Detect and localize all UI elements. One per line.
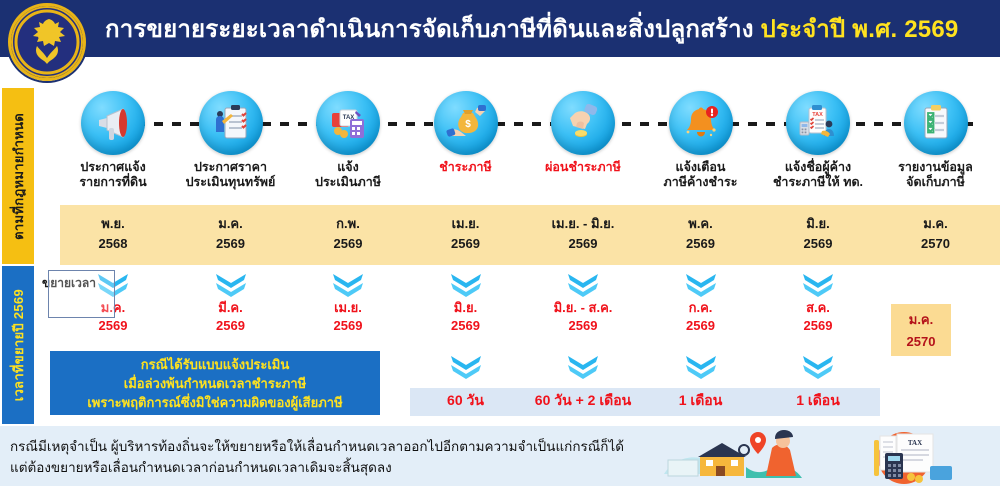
legal-date-5-year: 2569	[524, 234, 642, 254]
duration-4	[759, 352, 877, 381]
selection-highlight-box[interactable]	[48, 270, 115, 318]
extension-date-7-month: ส.ค.	[759, 299, 877, 317]
legal-date-8: ม.ค. 2570	[877, 214, 995, 254]
rail-legal-schedule-label: ตามที่กฎหมายกำหนด	[8, 113, 29, 240]
legal-date-4: เม.ย. 2569	[407, 214, 525, 254]
chevron-double-down-icon	[801, 272, 835, 298]
footer-note: กรณีมีเหตุจำเป็น ผู้บริหารท้องถิ่นจะให้ข…	[0, 426, 1000, 486]
clipboard-person-icon	[199, 91, 263, 155]
extension-date-1-year: 2569	[54, 317, 172, 335]
page-title: การขยายระยะเวลาดำเนินการจัดเก็บภาษีที่ดิ…	[105, 9, 958, 48]
tax-calculator-icon: TAX	[316, 91, 380, 155]
alert-bell-icon	[669, 91, 733, 155]
extension-final-date-chip: ม.ค. 2570	[891, 304, 951, 356]
extension-date-2-year: 2569	[172, 317, 290, 335]
legal-date-3: ก.พ. 2569	[289, 214, 407, 254]
extension-date-6: ก.ค. 2569	[642, 270, 760, 335]
legal-date-5-month: เม.ย. - มิ.ย.	[524, 214, 642, 234]
legal-date-7-month: มิ.ย.	[759, 214, 877, 234]
legal-date-1: พ.ย. 2568	[54, 214, 172, 254]
megaphone-icon	[81, 91, 145, 155]
extension-date-3-month: เม.ย.	[289, 299, 407, 317]
chevron-double-down-icon	[566, 354, 600, 380]
legal-date-4-month: เม.ย.	[407, 214, 525, 234]
extension-row: ขยายเวลา ม.ค. 2569 มี.ค. 2569 เม.ย. 2569…	[60, 270, 1000, 348]
legal-date-1-year: 2568	[54, 234, 172, 254]
extension-date-5-month: มิ.ย. - ส.ค.	[524, 299, 642, 317]
timeline-step-1-label: ประกาศแจ้ง รายการที่ดิน	[54, 160, 172, 190]
duration-row: ขยายเวลา 60 วัน 60 วัน + 2 เดือน 1 เดือน…	[60, 352, 1000, 416]
extension-date-5-year: 2569	[524, 317, 642, 335]
duration-1	[407, 352, 525, 381]
extension-date-4: มิ.ย. 2569	[407, 270, 525, 335]
legal-date-8-month: ม.ค.	[877, 214, 995, 234]
legal-date-3-month: ก.พ.	[289, 214, 407, 234]
footer-note-line-2: แต่ต้องขยายหรือเลื่อนกำหนดเวลาก่อนกำหนดเ…	[10, 457, 650, 478]
chevron-double-down-icon	[684, 354, 718, 380]
legal-date-6-month: พ.ค.	[642, 214, 760, 234]
legal-date-7: มิ.ย. 2569	[759, 214, 877, 254]
extension-final-date-month: ม.ค.	[891, 309, 951, 331]
legal-date-7-year: 2569	[759, 234, 877, 254]
chevron-double-down-icon	[449, 272, 483, 298]
legal-date-6-year: 2569	[642, 234, 760, 254]
footer-note-line-1: กรณีมีเหตุจำเป็น ผู้บริหารท้องถิ่นจะให้ข…	[10, 436, 650, 457]
extension-final-date-year: 2570	[891, 331, 951, 353]
extension-date-2-month: มี.ค.	[172, 299, 290, 317]
extension-date-5: มิ.ย. - ส.ค. 2569	[524, 270, 642, 335]
legal-date-6: พ.ค. 2569	[642, 214, 760, 254]
legal-date-2: ม.ค. 2569	[172, 214, 290, 254]
extension-date-2: มี.ค. 2569	[172, 270, 290, 335]
timeline-step-4[interactable]: $ ชำระภาษี	[407, 88, 525, 175]
checklist-icon	[904, 91, 968, 155]
duration-1-label: 60 วัน	[407, 390, 525, 412]
footer-illustrations: TAX	[652, 428, 992, 491]
legal-date-5: เม.ย. - มิ.ย. 2569	[524, 214, 642, 254]
extension-date-7: ส.ค. 2569	[759, 270, 877, 335]
chevron-double-down-icon	[331, 272, 365, 298]
legal-date-2-month: ม.ค.	[172, 214, 290, 234]
tax-list-person-icon: TAX	[786, 91, 850, 155]
duration-3-label: 1 เดือน	[642, 390, 760, 412]
extension-date-4-year: 2569	[407, 317, 525, 335]
timeline-step-3[interactable]: TAX แจ้ง ประเมินภาษี	[289, 88, 407, 190]
tax-document-calculator-illustration: TAX	[874, 432, 952, 484]
timeline-step-5-label: ผ่อนชำระภาษี	[524, 160, 642, 175]
legal-date-8-year: 2570	[877, 234, 995, 254]
extension-date-6-month: ก.ค.	[642, 299, 760, 317]
duration-2	[524, 352, 642, 381]
legal-date-4-year: 2569	[407, 234, 525, 254]
duration-2-label: 60 วัน + 2 เดือน	[524, 390, 642, 412]
timeline-step-3-label: แจ้ง ประเมินภาษี	[289, 160, 407, 190]
svg-text:$: $	[465, 119, 471, 130]
legal-date-band: พ.ย. 2568 ม.ค. 2569 ก.พ. 2569 เม.ย. 2569…	[60, 205, 1000, 265]
chevron-double-down-icon	[214, 272, 248, 298]
chevron-double-down-icon	[449, 354, 483, 380]
page-title-year: ประจำปี พ.ศ. 2569	[761, 16, 959, 43]
hand-coin-icon	[551, 91, 615, 155]
extension-date-3-year: 2569	[289, 317, 407, 335]
extension-date-6-year: 2569	[642, 317, 760, 335]
timeline-step-6-label: แจ้งเตือน ภาษีค้างชำระ	[642, 160, 760, 190]
timeline-step-2[interactable]: ประกาศราคา ประเมินทุนทรัพย์	[172, 88, 290, 190]
legal-date-2-year: 2569	[172, 234, 290, 254]
timeline: ประกาศแจ้ง รายการที่ดิน ประกาศราคา ประเม…	[60, 88, 1000, 200]
chevron-double-down-icon	[684, 272, 718, 298]
duration-4-label: 1 เดือน	[759, 390, 877, 412]
timeline-step-4-label: ชำระภาษี	[407, 160, 525, 175]
timeline-step-7-label: แจ้งชื่อผู้ค้าง ชำระภาษีให้ ทด.	[759, 160, 877, 190]
chevron-double-down-icon	[801, 354, 835, 380]
rail-extended-schedule-label: เวลาที่ขยายปี 2569	[8, 289, 29, 401]
extension-date-7-year: 2569	[759, 317, 877, 335]
timeline-step-6[interactable]: แจ้งเตือน ภาษีค้างชำระ	[642, 88, 760, 190]
page-header: การขยายระยะเวลาดำเนินการจัดเก็บภาษีที่ดิ…	[0, 0, 1000, 57]
extension-date-4-month: มิ.ย.	[407, 299, 525, 317]
chevron-double-down-icon	[566, 272, 600, 298]
timeline-step-5[interactable]: ผ่อนชำระภาษี	[524, 88, 642, 175]
extension-date-3: เม.ย. 2569	[289, 270, 407, 335]
timeline-step-1[interactable]: ประกาศแจ้ง รายการที่ดิน	[54, 88, 172, 190]
legal-date-3-year: 2569	[289, 234, 407, 254]
svg-text:TAX: TAX	[812, 112, 823, 118]
timeline-step-2-label: ประกาศราคา ประเมินทุนทรัพย์	[172, 160, 290, 190]
timeline-step-8-label: รายงานข้อมูล จัดเก็บภาษี	[877, 160, 995, 190]
footer-note-text: กรณีมีเหตุจำเป็น ผู้บริหารท้องถิ่นจะให้ข…	[10, 436, 650, 478]
legal-date-1-month: พ.ย.	[54, 214, 172, 234]
thai-garuda-seal-icon	[8, 3, 86, 81]
page-title-main: การขยายระยะเวลาดำเนินการจัดเก็บภาษีที่ดิ…	[105, 16, 754, 43]
timeline-step-7[interactable]: TAX แจ้งชื่อผู้ค้าง ชำระภาษีให้ ทด.	[759, 88, 877, 190]
svg-text:TAX: TAX	[908, 439, 922, 447]
duration-3	[642, 352, 760, 381]
timeline-step-8[interactable]: รายงานข้อมูล จัดเก็บภาษี	[877, 88, 995, 190]
money-bag-hand-icon: $	[434, 91, 498, 155]
rail-legal-schedule: ตามที่กฎหมายกำหนด	[2, 88, 34, 264]
rail-extended-schedule: เวลาที่ขยายปี 2569	[2, 266, 34, 424]
house-location-illustration	[664, 430, 802, 478]
